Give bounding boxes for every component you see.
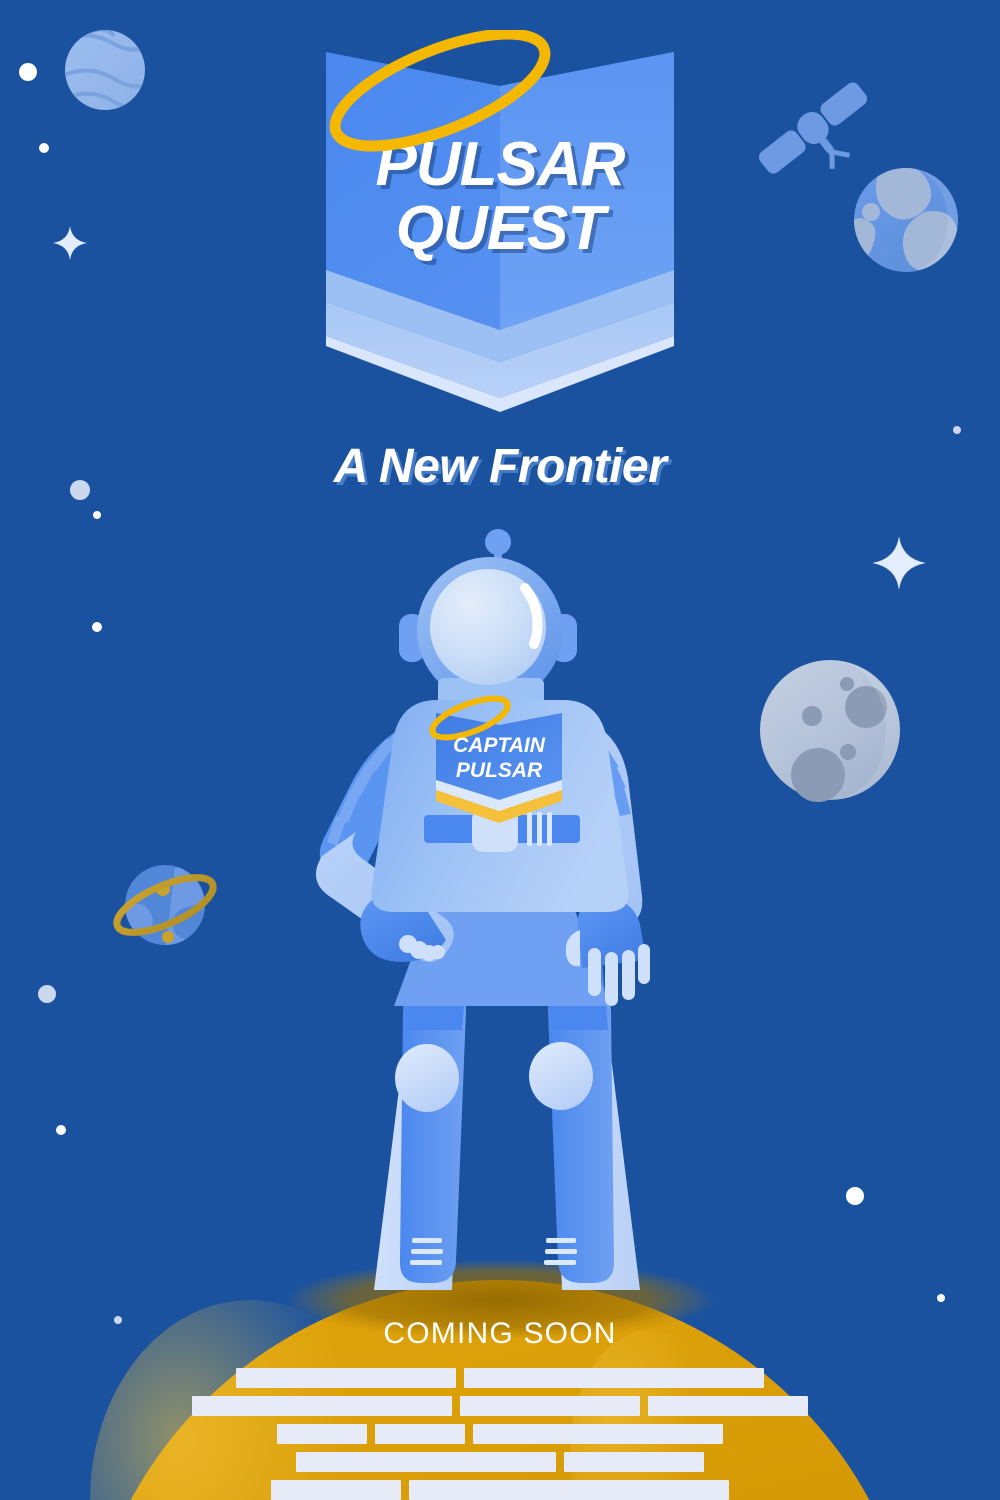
shin-stripes-right	[544, 1238, 577, 1265]
astronaut-illustration: CAPTAIN PULSAR	[0, 0, 1000, 1500]
placeholder-row	[296, 1452, 1000, 1472]
badge-line1: CAPTAIN	[453, 734, 546, 757]
placeholder-bar	[271, 1480, 401, 1500]
placeholder-row	[271, 1480, 1000, 1500]
placeholder-row	[277, 1424, 1000, 1444]
coming-soon-label: COMING SOON	[0, 1317, 1000, 1351]
placeholder-bar	[192, 1396, 452, 1416]
placeholder-bar	[473, 1424, 723, 1444]
knee-pad-left	[395, 1044, 459, 1112]
placeholder-bar	[460, 1396, 640, 1416]
poster-root: PULSAR QUEST A New Frontier	[0, 0, 1000, 1500]
shin-stripes-left	[410, 1238, 443, 1265]
placeholder-bar	[409, 1480, 729, 1500]
knee-pad-right	[529, 1042, 593, 1110]
placeholder-bar	[277, 1424, 367, 1444]
placeholder-bars	[0, 1368, 1000, 1500]
placeholder-row	[192, 1396, 1000, 1416]
placeholder-bar	[648, 1396, 808, 1416]
placeholder-bar	[564, 1452, 704, 1472]
placeholder-bar	[236, 1368, 456, 1388]
placeholder-bar	[296, 1452, 556, 1472]
placeholder-bar	[375, 1424, 465, 1444]
placeholder-bar	[464, 1368, 764, 1388]
placeholder-row	[236, 1368, 1000, 1388]
badge-line2: PULSAR	[456, 759, 543, 782]
